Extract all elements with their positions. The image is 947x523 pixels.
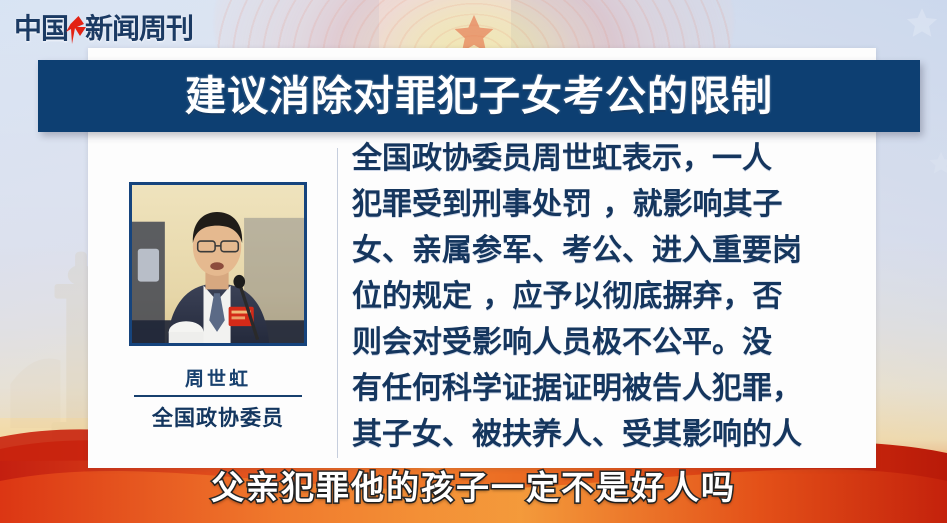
portrait-photo	[132, 185, 304, 343]
caption-title: 全国政协委员	[152, 402, 284, 432]
red-star-icon	[64, 15, 90, 45]
brand-name-part1: 中国	[14, 15, 68, 43]
column-divider	[337, 148, 338, 458]
body-text-block: 全国政协委员周世虹表示，一人 犯罪受到刑事处罚 ，就影响其子 女、亲属参军、考公…	[352, 136, 862, 458]
portrait-photo-frame	[129, 182, 307, 346]
video-frame: 中国 新闻周刊 建议消除对罪犯子女考公的限制	[0, 0, 947, 523]
portrait-column: 周世虹 全国政协委员	[100, 138, 336, 454]
decorative-star-icon	[905, 6, 939, 40]
headline-banner: 建议消除对罪犯子女考公的限制	[38, 60, 920, 132]
body-line: 有任何科学证据证明被告人犯罪，	[352, 366, 862, 412]
headline-text: 建议消除对罪犯子女考公的限制	[185, 76, 773, 117]
subtitle-caption: 父亲犯罪他的孩子一定不是好人吗	[0, 461, 947, 509]
body-line: 女、亲属参军、考公、进入重要岗	[352, 228, 862, 274]
body-line: 其子女、被扶养人、受其影响的人	[352, 412, 862, 458]
brand-name-part2: 新闻周刊	[85, 15, 193, 43]
caption-name: 周世虹	[185, 368, 251, 392]
brand-logo: 中国 新闻周刊	[14, 10, 193, 48]
body-line: 位的规定 ，应予以彻底摒弃，否	[352, 274, 862, 320]
body-line: 犯罪受到刑事处罚 ，就影响其子	[352, 182, 862, 228]
caption-rule	[134, 395, 302, 397]
body-line: 全国政协委员周世虹表示，一人	[352, 136, 862, 182]
decorative-star-icon	[928, 150, 947, 176]
body-line: 则会对受影响人员极不公平。没	[352, 320, 862, 366]
